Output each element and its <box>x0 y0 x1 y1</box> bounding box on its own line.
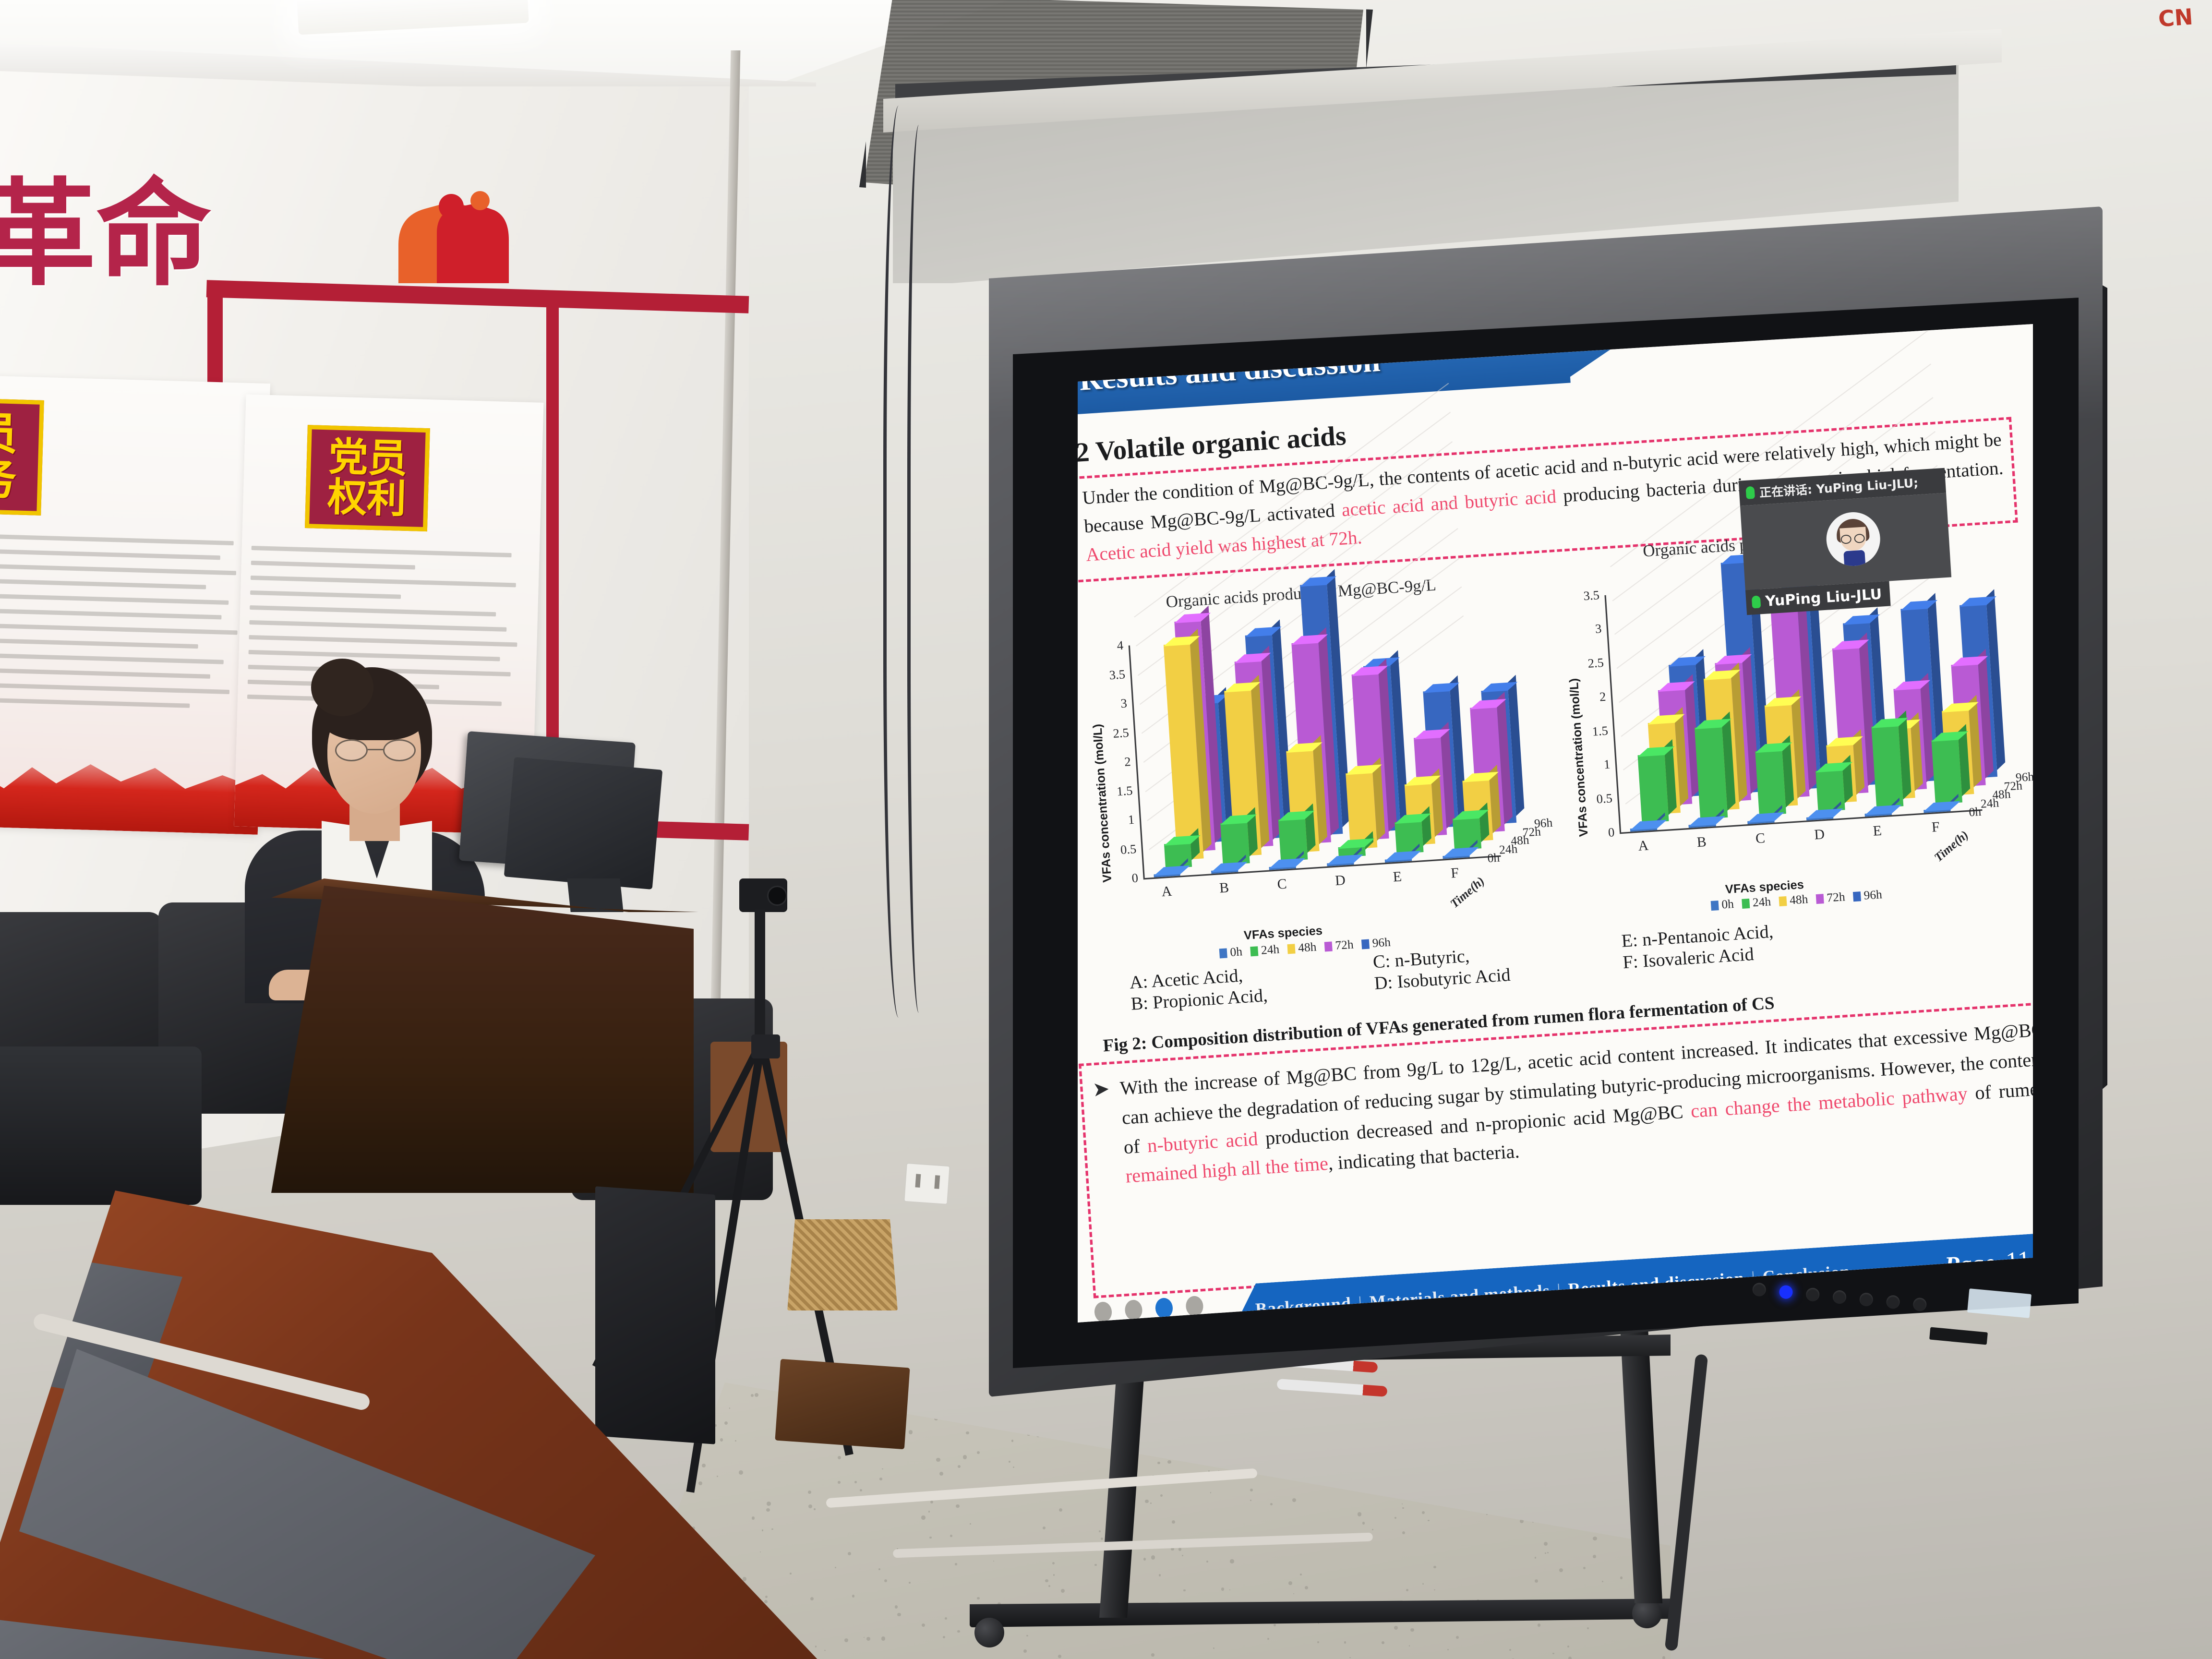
legend-item-48h: 48h <box>1287 940 1317 956</box>
podium-monitor-front <box>504 757 663 890</box>
floor-texture-speck <box>909 1430 913 1434</box>
y-axis-tick: 2 <box>1100 755 1131 771</box>
floor-texture-speck <box>1395 1517 1396 1519</box>
floor-texture-speck <box>939 1472 943 1476</box>
interactive-display: 3 Results and discussion Jilin Universit… <box>989 206 2103 1397</box>
floor-texture-speck <box>1011 1440 1014 1442</box>
z-axis-tick: 0h <box>1969 805 1982 820</box>
bar-front-face <box>1872 725 1904 808</box>
legend-swatch <box>1853 891 1861 902</box>
floor-texture-speck <box>814 1508 816 1510</box>
legend-label: 24h <box>1752 895 1771 910</box>
x-axis-tick: F <box>1450 865 1459 882</box>
floor-texture-speck <box>1535 1557 1537 1559</box>
floor-texture-speck <box>1544 1542 1548 1546</box>
wall-outlet <box>903 1163 950 1205</box>
legend-label: 48h <box>1789 893 1808 908</box>
legend-item-0h: 0h <box>1710 898 1734 913</box>
bar-A-24h <box>1164 842 1192 868</box>
plaque-line2: 权利 <box>327 477 407 519</box>
floor-texture-speck <box>1593 1537 1597 1541</box>
bar-front-face <box>1221 821 1250 865</box>
floor-texture-speck <box>884 1579 888 1583</box>
floor-texture-speck <box>698 1481 703 1486</box>
floor-texture-speck <box>1206 1561 1208 1563</box>
floor-texture-speck <box>955 1563 957 1565</box>
floor-texture-speck <box>1317 1641 1319 1643</box>
floor-texture-speck <box>1143 1558 1146 1561</box>
floor-texture-speck <box>1250 1489 1253 1491</box>
tripod-column <box>755 910 765 1049</box>
z-axis-tick: 96h <box>1534 817 1553 831</box>
legend-swatch <box>1711 901 1719 911</box>
floor-texture-speck <box>1250 1500 1251 1501</box>
floor-texture-speck <box>1382 1641 1384 1644</box>
floor-texture-speck <box>1160 1494 1163 1497</box>
tv-button-back[interactable] <box>1805 1287 1820 1302</box>
floor-texture-speck <box>1394 1626 1398 1630</box>
floor-texture-speck <box>808 1491 811 1494</box>
floor-texture-speck <box>895 1605 898 1609</box>
x-axis-tick: A <box>1161 883 1173 900</box>
legend-label: 48h <box>1298 940 1317 955</box>
floor-texture-speck <box>977 1597 980 1600</box>
floor-texture-speck <box>879 1478 882 1480</box>
floor-texture-speck <box>824 1650 826 1651</box>
floor-texture-speck <box>852 1595 854 1597</box>
bar-C-24h <box>1278 818 1308 862</box>
bar-top-face <box>1212 862 1248 872</box>
bar-E-24h <box>1872 725 1904 808</box>
x-axis-tick: B <box>1219 880 1229 897</box>
x-axis-tick: C <box>1277 876 1287 893</box>
floor-texture-speck <box>1422 1511 1425 1514</box>
y-axis-tick: 3.5 <box>1568 589 1599 605</box>
tripod-head <box>751 1034 780 1058</box>
bar-top-face <box>1923 801 1960 812</box>
legend-swatch <box>1742 899 1750 909</box>
floor-texture-speck <box>882 1468 883 1470</box>
floor-texture-speck <box>1587 1627 1589 1629</box>
chart-left-xlabel: VFAs species <box>1243 924 1323 943</box>
floor-texture-speck <box>1023 1649 1027 1653</box>
legend-swatch <box>1219 948 1227 958</box>
y-axis-tick: 3.5 <box>1094 668 1126 684</box>
y-axis-tick: 4 <box>1093 638 1124 655</box>
floor-texture-speck <box>751 1394 754 1397</box>
floor-texture-speck <box>838 1481 841 1484</box>
floor-texture-speck <box>921 1515 925 1519</box>
vfa-key-mid: C: n-Butyric, D: Isobutyric Acid <box>1372 942 1511 994</box>
floor-texture-speck <box>950 1535 952 1537</box>
y-axis-tick: 1 <box>1579 758 1611 774</box>
floor-texture-speck <box>1094 1564 1096 1566</box>
floor-texture-speck <box>928 1511 930 1512</box>
progress-dot-1[interactable] <box>1124 1299 1143 1321</box>
cable-basket <box>787 1219 898 1310</box>
floor-texture-speck <box>1099 1530 1101 1532</box>
floor-texture-speck <box>1547 1552 1549 1553</box>
floor-texture-speck <box>1362 1522 1365 1525</box>
legend-swatch <box>1287 944 1295 954</box>
floor-texture-speck <box>848 1552 851 1555</box>
floor-texture-speck <box>977 1451 980 1454</box>
floor-texture-speck <box>1048 1585 1051 1587</box>
z-axis-tick: 0h <box>1487 851 1500 866</box>
progress-dot-0[interactable] <box>1094 1301 1113 1322</box>
floor-texture-speck <box>1422 1583 1424 1585</box>
legend-swatch <box>1779 896 1787 906</box>
legend-item-96h: 96h <box>1853 888 1883 903</box>
x-axis-tick: D <box>1334 872 1346 889</box>
floor-texture-speck <box>790 1573 792 1575</box>
bar-B-24h <box>1221 821 1250 865</box>
floor-texture-speck <box>1620 1576 1623 1579</box>
floor-texture-speck <box>1101 1538 1103 1540</box>
legend-label: 24h <box>1261 943 1280 958</box>
poster-body-text <box>0 532 247 720</box>
floor-texture-speck <box>881 1636 886 1641</box>
floor-texture-speck <box>1538 1623 1541 1627</box>
floor-texture-speck <box>1150 1503 1151 1503</box>
floor-texture-speck <box>1358 1512 1361 1516</box>
floor-texture-speck <box>1305 1586 1308 1589</box>
bar-top-face <box>1865 805 1902 815</box>
floor-texture-speck <box>1229 1589 1230 1590</box>
floor-texture-speck <box>945 1617 947 1620</box>
floor-texture-speck <box>1151 1555 1155 1559</box>
legend-label: 72h <box>1827 890 1846 905</box>
floor-texture-speck <box>1545 1552 1546 1554</box>
poster-plaque-obligations: 党员 义务 <box>0 397 44 516</box>
floor-texture-speck <box>1292 1498 1296 1502</box>
floor-texture-speck <box>1058 1655 1061 1658</box>
legend-swatch <box>1361 939 1370 949</box>
legend-label: 0h <box>1721 898 1734 912</box>
bar-front-face <box>1395 820 1424 854</box>
floor-texture-speck <box>1406 1589 1408 1591</box>
avatar-torso <box>1843 550 1865 567</box>
wall-cable-2 <box>907 125 936 1013</box>
floor-texture-speck <box>1662 1656 1665 1659</box>
floor-texture-speck <box>1013 1467 1014 1468</box>
caster-wheel-left <box>974 1618 1004 1647</box>
tv-button-power[interactable] <box>1752 1282 1766 1297</box>
paragraph-segment: n-butyric acid <box>1147 1128 1259 1156</box>
poster-red-graphic <box>0 735 260 835</box>
microphone-icon-small <box>1752 595 1761 608</box>
floor-texture-speck <box>909 1582 911 1584</box>
vfa-key-left: A: Acetic Acid, B: Propionic Acid, <box>1129 963 1268 1014</box>
floor-texture-speck <box>1145 1500 1149 1503</box>
bar-E-24h <box>1395 820 1424 854</box>
floor-texture-speck <box>1151 1653 1154 1656</box>
floor-texture-speck <box>866 1637 870 1641</box>
floor-texture-speck <box>1456 1636 1459 1639</box>
floor-texture-speck <box>1159 1574 1161 1576</box>
floor-texture-speck <box>767 1502 771 1506</box>
floor-texture-speck <box>1434 1589 1435 1590</box>
tv-button-vol-down[interactable] <box>1859 1292 1874 1307</box>
y-axis-tick: 2 <box>1575 690 1606 706</box>
floor-texture-speck <box>1402 1507 1404 1509</box>
floor-texture-speck <box>860 1489 862 1491</box>
wooden-box <box>775 1359 910 1449</box>
progress-dot-3[interactable] <box>1185 1296 1204 1317</box>
floor-texture-speck <box>1300 1574 1302 1575</box>
floor-texture-speck <box>1172 1520 1175 1524</box>
legend-item-96h: 96h <box>1361 936 1391 951</box>
floor-texture-speck <box>1509 1649 1511 1651</box>
bar-top-face <box>1630 820 1667 830</box>
bar-front-face <box>1164 842 1192 868</box>
floor-texture-speck <box>1213 1647 1214 1649</box>
bar-A-48h <box>1163 643 1203 860</box>
floor-texture-speck <box>854 1481 857 1483</box>
x-axis-tick: D <box>1814 827 1825 843</box>
bar-top-face <box>1154 866 1190 876</box>
floor-texture-speck <box>936 1458 940 1462</box>
bar-front-face <box>1815 769 1845 812</box>
floor-texture-speck <box>717 1476 718 1477</box>
floor-texture-speck <box>1059 1508 1062 1512</box>
y-axis-tick: 1.5 <box>1102 784 1133 800</box>
floor-texture-speck <box>958 1465 961 1468</box>
floor-texture-speck <box>1274 1624 1276 1626</box>
paragraph-segment: of rumen <box>1967 1078 2033 1104</box>
bar-top-face <box>1689 816 1726 827</box>
floor-texture-speck <box>815 1646 817 1647</box>
floor-texture-speck <box>864 1637 865 1638</box>
floor-texture-speck <box>844 1638 848 1642</box>
floor-texture-speck <box>1288 1581 1292 1585</box>
z-axis-tick: 96h <box>2015 770 2033 785</box>
bar-top-face <box>1385 851 1421 861</box>
floor-texture-speck <box>1428 1520 1429 1521</box>
microphone-icon <box>1745 486 1755 499</box>
pc-tower <box>595 1186 715 1444</box>
floor-texture-speck <box>1552 1653 1554 1655</box>
plaque-line1: 党员 <box>328 437 408 479</box>
floor-texture-speck <box>808 1504 812 1508</box>
legend-label: 72h <box>1335 938 1354 953</box>
bottom-bullet-icon: ➤ <box>1092 1077 1110 1102</box>
legend-item-72h: 72h <box>1324 938 1354 953</box>
floor-texture-speck <box>760 1551 761 1552</box>
floor-texture-speck <box>956 1504 960 1508</box>
floor-texture-speck <box>1409 1645 1410 1646</box>
floor-texture-speck <box>1053 1574 1055 1575</box>
floor-texture-speck <box>762 1529 763 1531</box>
floor-texture-speck <box>755 1393 758 1397</box>
floor-texture-speck <box>1318 1623 1319 1624</box>
participant-name: YuPing Liu-JLU <box>1765 586 1882 610</box>
floor-texture-speck <box>1026 1635 1028 1637</box>
tv-button-source[interactable] <box>1912 1297 1927 1311</box>
floor-texture-speck <box>993 1561 995 1562</box>
poster-plaque-rights: 党员 权利 <box>305 425 430 531</box>
plaque-line1: 党员 <box>0 410 18 457</box>
floor-texture-speck <box>766 1508 769 1512</box>
floor-texture-speck <box>966 1431 969 1434</box>
floor-texture-speck <box>702 1464 706 1467</box>
floor-texture-speck <box>1567 1646 1569 1647</box>
floor-texture-speck <box>1210 1492 1211 1493</box>
floor-texture-speck <box>1230 1559 1234 1563</box>
y-axis-tick: 1.5 <box>1577 724 1608 740</box>
x-axis-tick: E <box>1873 823 1882 840</box>
floor-texture-speck <box>1182 1555 1183 1556</box>
y-axis-tick: 0.5 <box>1106 842 1137 859</box>
legend-swatch <box>1324 941 1333 951</box>
floor-texture-speck <box>1293 1593 1294 1594</box>
floor-texture-speck <box>739 1470 743 1474</box>
floor-texture-speck <box>1009 1461 1010 1463</box>
floor-texture-speck <box>1602 1581 1603 1582</box>
floor-texture-speck <box>1568 1657 1572 1659</box>
bar-top-face <box>1747 812 1784 823</box>
floor-texture-speck <box>963 1455 967 1459</box>
floor-texture-speck <box>1535 1579 1539 1583</box>
bar-top-face <box>1327 854 1364 865</box>
legend-item-24h: 24h <box>1250 943 1280 958</box>
tv-button-menu[interactable] <box>1832 1290 1847 1304</box>
bar-top-face <box>1443 847 1479 857</box>
floor-texture-speck <box>765 1596 768 1598</box>
floor-texture-speck <box>724 1421 728 1425</box>
floor-texture-speck <box>1559 1568 1563 1572</box>
bar-front-face <box>1695 726 1727 819</box>
floor-texture-speck <box>878 1568 880 1570</box>
bar-front-face <box>1453 817 1481 850</box>
legend-item-24h: 24h <box>1742 895 1771 911</box>
x-axis-tick: E <box>1393 869 1402 886</box>
x-axis-tick: C <box>1755 830 1766 847</box>
floor-texture-speck <box>1410 1628 1414 1632</box>
floor-texture-speck <box>1447 1649 1449 1650</box>
floor-texture-speck <box>1167 1460 1171 1464</box>
floor-texture-speck <box>1433 1566 1436 1569</box>
legend-item-48h: 48h <box>1779 893 1808 908</box>
floor-texture-speck <box>1583 1567 1586 1569</box>
chart-left: Organic acids produced : Mg@BC-9g/L VFAs… <box>1078 570 1555 965</box>
presenter-hair-bun <box>311 659 373 716</box>
legend-label: 0h <box>1230 945 1243 960</box>
bar-top-face <box>1806 808 1843 819</box>
y-axis-tick: 2.5 <box>1573 656 1604 673</box>
y-axis-tick: 0 <box>1584 826 1615 842</box>
floor-texture-speck <box>1052 1562 1055 1564</box>
floor-texture-speck <box>943 1636 945 1638</box>
legend-label: 96h <box>1863 888 1883 903</box>
bar-front-face <box>1278 818 1308 862</box>
podium <box>271 886 694 1193</box>
legend-item-0h: 0h <box>1219 945 1242 961</box>
floor-texture-speck <box>1402 1531 1405 1534</box>
floor-texture-speck <box>930 1501 933 1503</box>
screenshot-scene: 革命 党员 义务 党员 权利 <box>0 0 2212 1659</box>
chart-left-ylabel: VFAs concentration (mol/L) <box>1091 723 1115 883</box>
floor-texture-speck <box>929 1537 931 1539</box>
bar-F-24h <box>1453 817 1481 850</box>
y-axis-tick: 3 <box>1571 622 1602 638</box>
legend-swatch <box>1250 946 1258 956</box>
floor-texture-speck <box>1372 1529 1373 1530</box>
legend-label: 96h <box>1372 936 1391 950</box>
chair-seat-left <box>0 1046 202 1205</box>
floor-texture-speck <box>1043 1527 1046 1529</box>
floor-texture-speck <box>838 1456 841 1459</box>
camera-lens <box>767 886 787 906</box>
floor-texture-speck <box>957 1630 960 1633</box>
floor-texture-speck <box>771 1528 773 1530</box>
floor-texture-speck <box>752 1516 755 1519</box>
floor-texture-speck <box>1061 1589 1065 1593</box>
floor-texture-speck <box>1045 1579 1048 1583</box>
tv-button-home[interactable] <box>1779 1285 1793 1299</box>
bar-D-24h <box>1815 769 1845 812</box>
floor-texture-speck <box>1157 1462 1160 1465</box>
floor-texture-speck <box>1270 1503 1273 1505</box>
x-axis-tick: A <box>1638 838 1649 854</box>
tv-button-vol-up[interactable] <box>1886 1295 1900 1309</box>
chart-left-plot: 00.511.522.533.54ABCDEF0h24h48h72h96h <box>1127 600 1536 909</box>
floor-texture-speck <box>720 1438 723 1441</box>
floor-texture-speck <box>1183 1589 1186 1592</box>
floor-texture-speck <box>835 1567 836 1568</box>
participant-video-tile[interactable] <box>1740 493 1951 590</box>
legend-swatch <box>1816 894 1824 904</box>
participant-video-panel[interactable]: 正在讲话: YuPing Liu-JLU; YuPing Liu-JLU <box>1739 468 1953 615</box>
wall-banner-characters: 革命 <box>0 178 211 293</box>
floor-texture-speck <box>1178 1548 1181 1551</box>
legend-item-72h: 72h <box>1815 890 1845 906</box>
floor-texture-speck <box>1349 1657 1350 1658</box>
presenter-glasses <box>335 739 417 761</box>
x-axis-tick: B <box>1696 834 1707 851</box>
avatar <box>1825 511 1882 568</box>
floor-texture-speck <box>922 1623 926 1627</box>
housing-brand-mark: CN <box>2157 4 2194 32</box>
y-axis-tick: 0 <box>1107 871 1139 888</box>
y-axis-tick: 2.5 <box>1098 726 1129 742</box>
floor-texture-speck <box>970 1523 971 1525</box>
floor-texture-speck <box>1344 1641 1346 1643</box>
floor-texture-speck <box>897 1613 901 1617</box>
floor-texture-speck <box>764 1600 768 1603</box>
floor-texture-speck <box>743 1577 747 1581</box>
floor-texture-speck <box>1221 1587 1224 1590</box>
x-axis <box>1143 855 1501 880</box>
bar-B-24h <box>1695 726 1727 819</box>
floor-texture-speck <box>810 1597 814 1600</box>
floor-texture-speck <box>1267 1638 1269 1640</box>
plaque-line2: 义务 <box>0 455 17 502</box>
x-axis-tick: F <box>1931 819 1940 836</box>
y-axis-tick: 3 <box>1096 697 1127 713</box>
bar-top-face <box>1269 858 1306 868</box>
y-axis-tick: 1 <box>1104 813 1135 829</box>
floor-texture-speck <box>735 1440 736 1442</box>
floor-texture-speck <box>1593 1555 1596 1558</box>
floor-texture-speck <box>729 1407 730 1408</box>
progress-dot-2[interactable] <box>1155 1298 1174 1319</box>
floor-texture-speck <box>1402 1503 1403 1504</box>
party-emblem-graphic <box>379 187 528 288</box>
y-axis-tick: 0.5 <box>1581 792 1612 808</box>
